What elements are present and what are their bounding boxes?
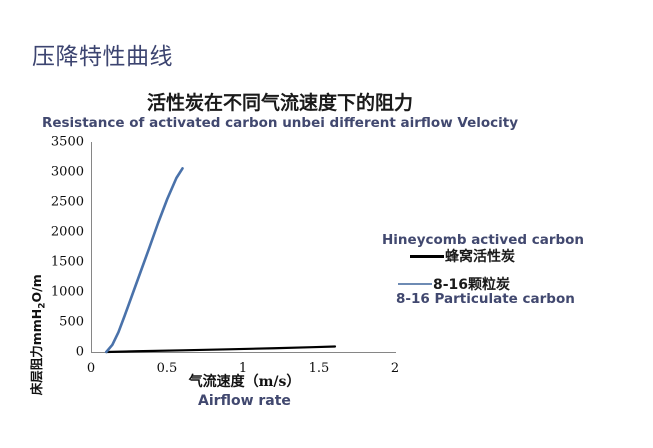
legend-label-particulate-english: 8-16 Particulate carbon xyxy=(396,291,575,307)
legend-line-swatch-black xyxy=(410,255,444,258)
legend-line-swatch-blue xyxy=(398,283,432,285)
legend-item-honeycomb: 蜂窝活性炭 xyxy=(410,246,515,266)
page-title: 压降特性曲线 xyxy=(32,44,173,70)
chart-container: 活性炭在不同气流速度下的阻力 Resistance of activated c… xyxy=(0,88,653,448)
legend-label-honeycomb-chinese: 蜂窝活性炭 xyxy=(445,246,515,266)
chart-legend: Hineycomb actived carbon 蜂窝活性炭 8-16颗粒炭 8… xyxy=(0,88,653,448)
slide-canvas: 压降特性曲线 活性炭在不同气流速度下的阻力 Resistance of acti… xyxy=(0,0,653,448)
